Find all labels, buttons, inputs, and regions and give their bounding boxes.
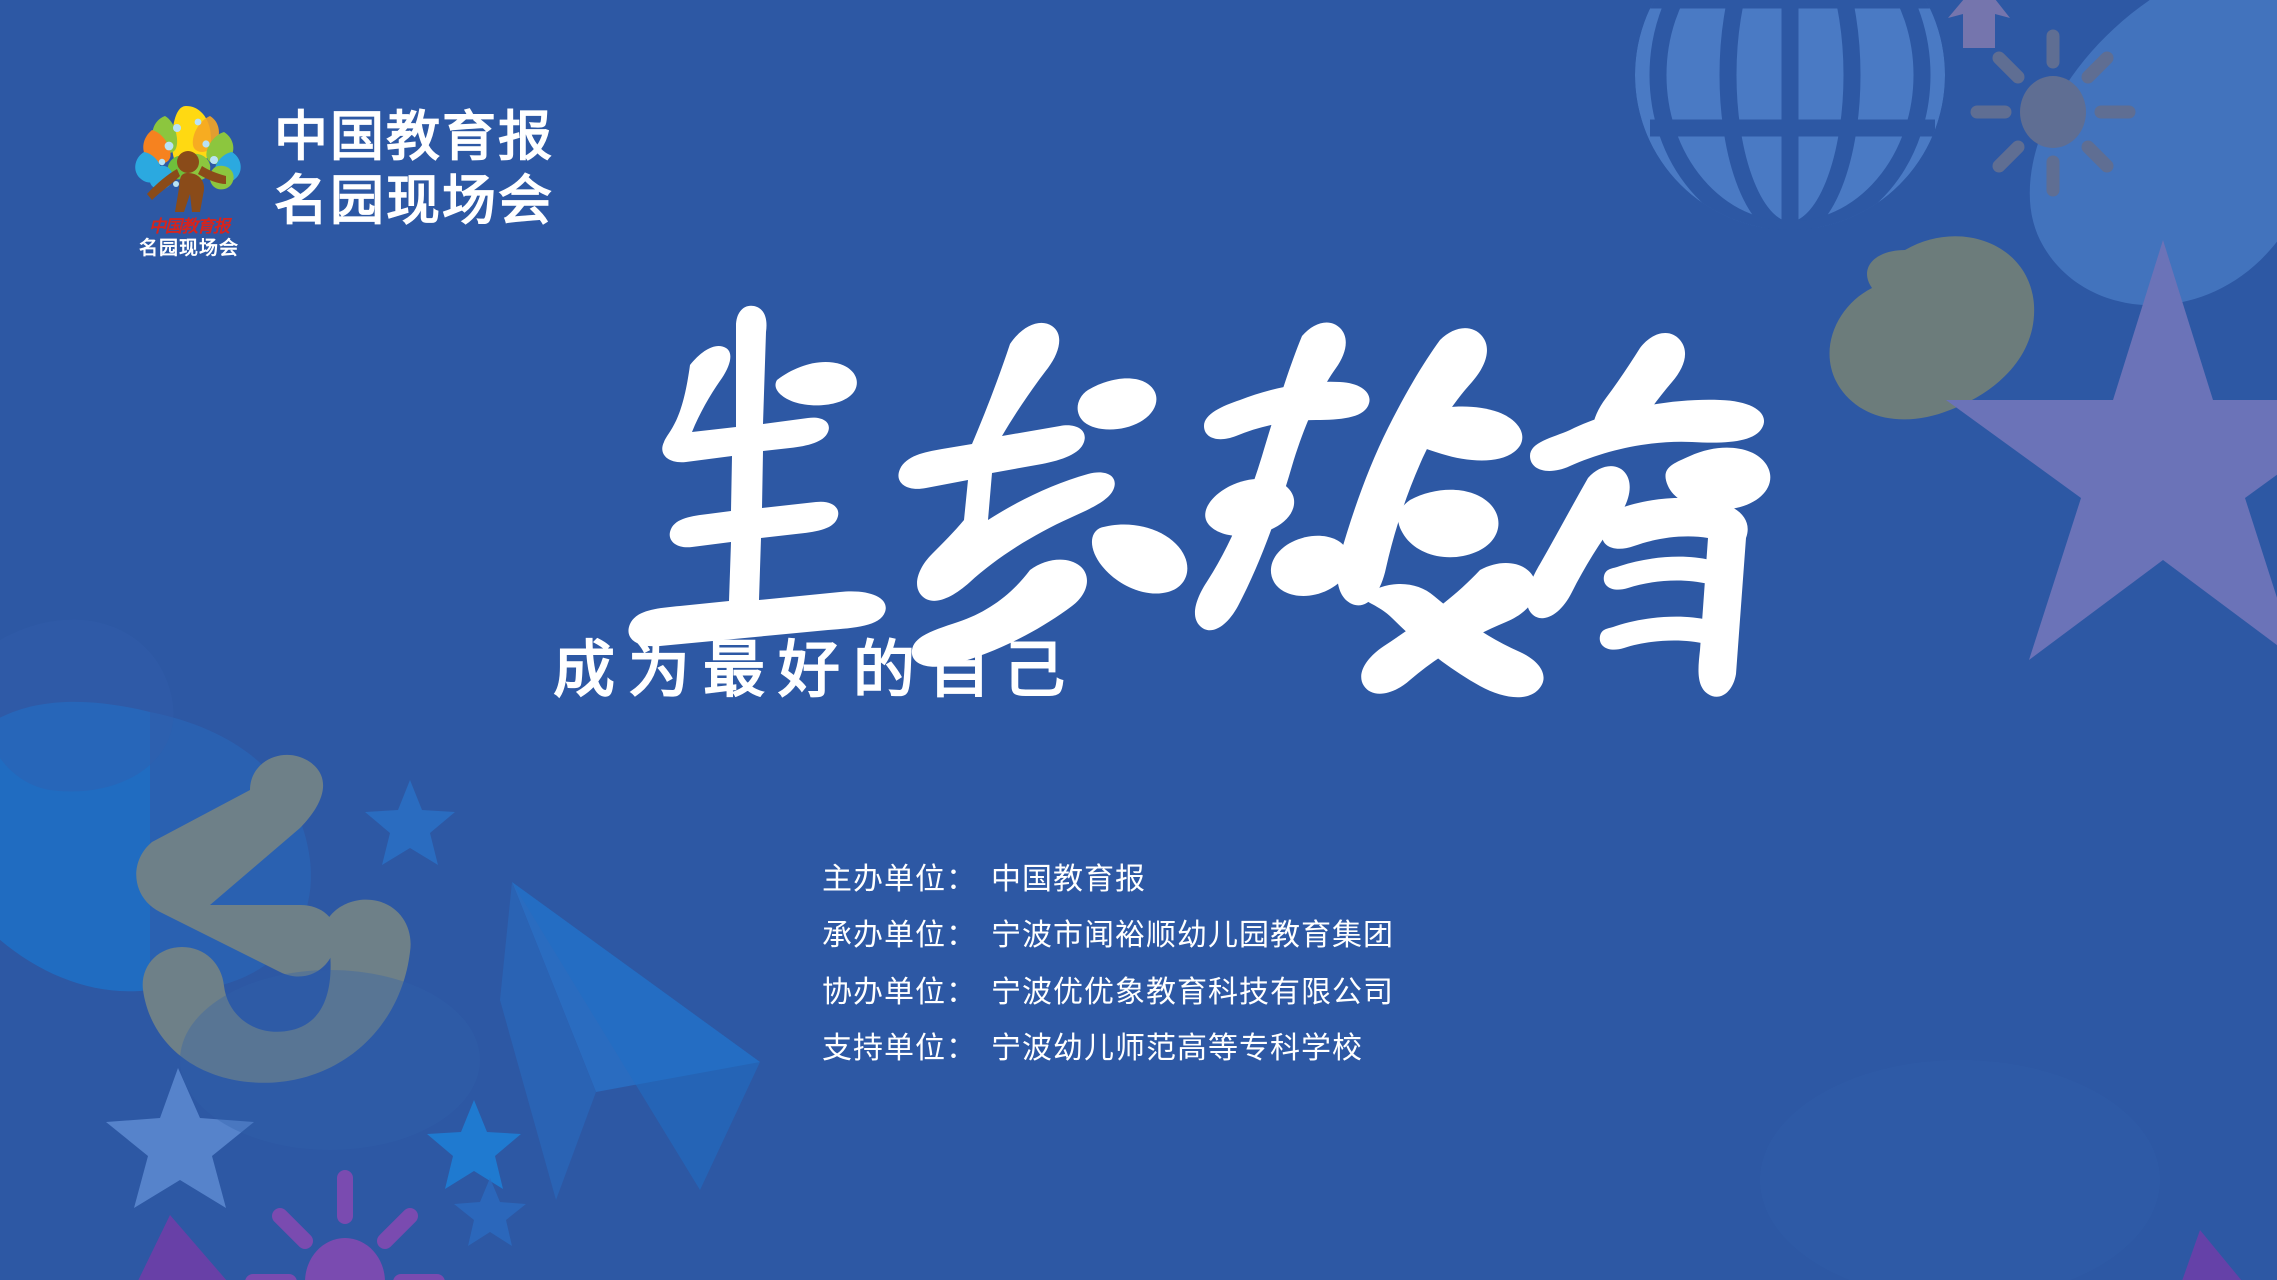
brand-wordmark: 中国教育报 名园现场会 — [274, 100, 554, 233]
hero-subtitle: 成为最好的自己 — [553, 640, 1078, 702]
brand-badge-red-text: 中国教育报 — [130, 218, 248, 235]
blob-shape — [180, 970, 480, 1150]
brand-badge-sub-text: 名园现场会 — [130, 239, 248, 258]
credit-row: 承办单位： 宁波市闻裕顺幼儿园教育集团 — [822, 918, 1394, 953]
credit-row: 协办单位： 宁波优优象教育科技有限公司 — [822, 975, 1394, 1010]
leaf-shape — [150, 712, 311, 991]
brand-lockup: 中国教育报 名园现场会 中国教育报 名园现场会 — [130, 100, 554, 280]
triangle-shape — [80, 1215, 330, 1280]
globe-icon — [1635, 0, 1945, 240]
sun-icon — [253, 1178, 437, 1280]
star-icon — [427, 1100, 521, 1189]
heart-icon — [1830, 236, 2035, 419]
credit-value: 宁波幼儿师范高等专科学校 — [991, 1031, 1363, 1066]
credit-value: 宁波市闻裕顺幼儿园教育集团 — [991, 918, 1394, 953]
ribbon-squiggle-shape — [136, 755, 336, 977]
sun-icon — [1977, 36, 2129, 190]
star-icon — [365, 780, 455, 865]
star-icon — [1946, 240, 2277, 660]
star-icon — [106, 1068, 254, 1208]
ribbon-squiggle-shape — [143, 900, 411, 1083]
blob-shape — [1760, 1060, 2160, 1280]
credit-label: 支持单位： — [822, 1031, 977, 1066]
growing-tree-child-logo: 中国教育报 名园现场会 — [130, 100, 248, 280]
credit-label: 协办单位： — [822, 975, 977, 1010]
brand-line-1: 中国教育报 — [274, 106, 554, 170]
poster-canvas: 中国教育报 名园现场会 中国教育报 名园现场会 生长教育 — [0, 0, 2277, 1280]
leaf-shape — [0, 702, 150, 991]
credit-row: 支持单位： 宁波幼儿师范高等专科学校 — [822, 1031, 1394, 1066]
triangle-shape — [2140, 1230, 2277, 1280]
arrow-up-icon — [1948, 0, 2010, 48]
credit-label: 承办单位： — [822, 918, 977, 953]
star-icon — [454, 1178, 526, 1246]
credits-block: 主办单位： 中国教育报 承办单位： 宁波市闻裕顺幼儿园教育集团 协办单位： 宁波… — [822, 862, 1394, 1067]
credit-label: 主办单位： — [822, 862, 977, 897]
credit-value: 宁波优优象教育科技有限公司 — [991, 975, 1394, 1010]
brand-badge: 中国教育报 名园现场会 — [130, 218, 248, 258]
blob-shape — [0, 620, 173, 792]
brand-line-2: 名园现场会 — [274, 170, 554, 234]
credit-value: 中国教育报 — [991, 862, 1146, 897]
paper-plane-icon — [500, 882, 760, 1200]
teardrop-shape — [2030, 0, 2277, 305]
credit-row: 主办单位： 中国教育报 — [822, 862, 1394, 897]
